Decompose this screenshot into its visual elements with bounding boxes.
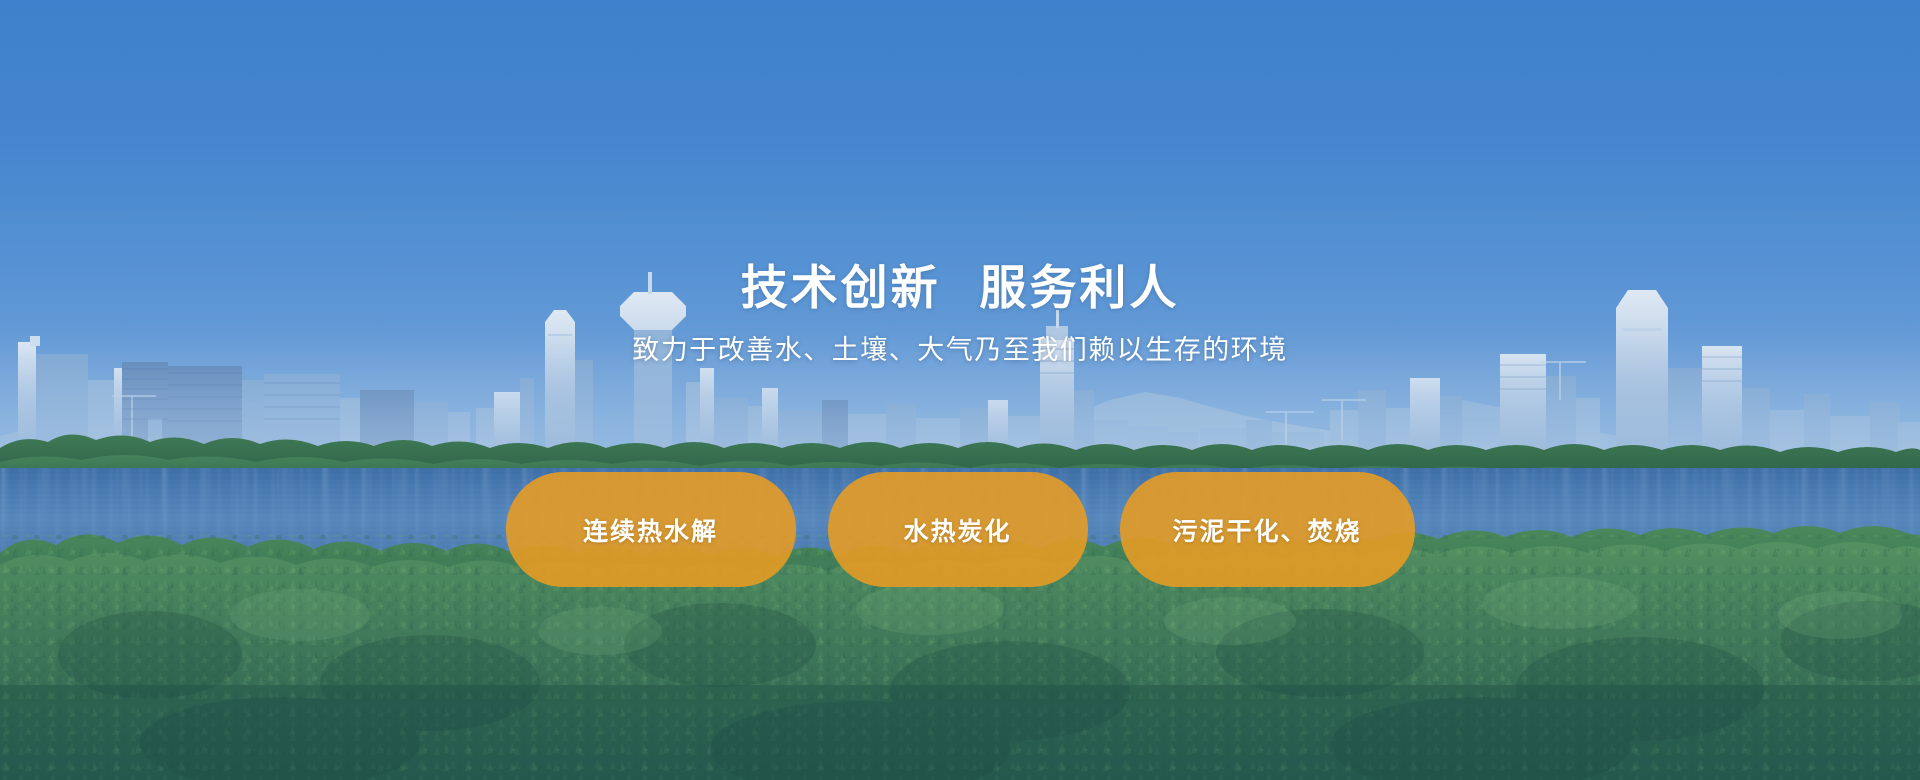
hero-banner: 技术创新 服务利人 致力于改善水、土壤、大气乃至我们赖以生存的环境 连续热水解 … (0, 0, 1920, 780)
cta-button-row: 连续热水解 水热炭化 污泥干化、焚烧 (0, 472, 1920, 587)
cta-sludge-drying-incineration[interactable]: 污泥干化、焚烧 (1120, 472, 1415, 587)
cta-hydrothermal-carbonization[interactable]: 水热炭化 (828, 472, 1088, 587)
page-title: 技术创新 服务利人 (0, 258, 1920, 320)
hero-subtitle: 致力于改善水、土壤、大气乃至我们赖以生存的环境 (0, 332, 1920, 370)
cta-continuous-thermal-hydrolysis[interactable]: 连续热水解 (506, 472, 796, 587)
hero-copy-block: 技术创新 服务利人 致力于改善水、土壤、大气乃至我们赖以生存的环境 (0, 258, 1920, 370)
